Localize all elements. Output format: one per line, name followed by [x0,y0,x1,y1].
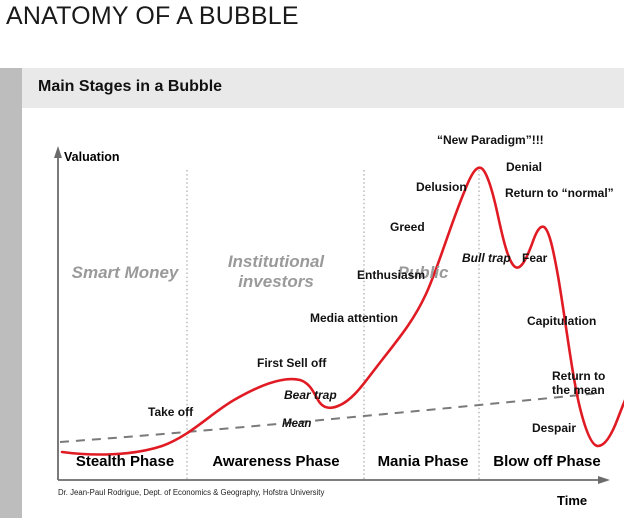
annotation-first-sell-off: First Sell off [257,356,326,370]
annotation-denial: Denial [506,160,542,174]
annotation-new-paradigm: “New Paradigm”!!! [437,133,544,147]
annotation-bull-trap: Bull trap [462,251,511,265]
y-axis-label: Valuation [64,150,120,164]
annotation-enthusiasm: Enthusiasm [357,268,425,282]
annotation-fear: Fear [522,251,547,265]
annotation-greed: Greed [390,220,425,234]
y-axis-arrow [54,146,62,158]
figure-card: Main Stages in a Bubble [0,68,624,518]
annotation-delusion: Delusion [416,180,467,194]
annotation-capitulation: Capitulation [527,314,596,328]
phase-dividers [187,170,479,480]
annotation-despair: Despair [532,421,576,435]
stage-label-smart-money: Smart Money [66,263,184,283]
chart-credit: Dr. Jean-Paul Rodrigue, Dept. of Economi… [58,488,324,497]
chart-plot-area: Valuation Smart Money Institutional inve… [22,108,624,518]
figure-header-title: Main Stages in a Bubble [38,78,222,96]
x-axis-label: Time [557,493,587,508]
left-gutter-strip [0,68,22,518]
phase-label-mania: Mania Phase [366,453,480,470]
x-axis-arrow [598,476,610,484]
annotation-return-to-the-mean: Return to the mean [552,370,605,398]
page-title: ANATOMY OF A BUBBLE [6,2,299,31]
phase-label-awareness: Awareness Phase [188,453,364,470]
figure-header-bar: Main Stages in a Bubble [22,68,624,108]
annotation-media-attention: Media attention [310,311,398,325]
annotation-mean: Mean [282,418,311,430]
annotation-return-to-normal: Return to “normal” [505,186,614,200]
annotation-bear-trap: Bear trap [284,388,337,402]
phase-label-blowoff: Blow off Phase [480,453,614,470]
slide-page: ANATOMY OF A BUBBLE Main Stages in a Bub… [0,0,624,528]
stage-label-institutional-investors: Institutional investors [198,252,354,291]
phase-label-stealth: Stealth Phase [62,453,188,470]
annotation-take-off: Take off [148,405,193,419]
